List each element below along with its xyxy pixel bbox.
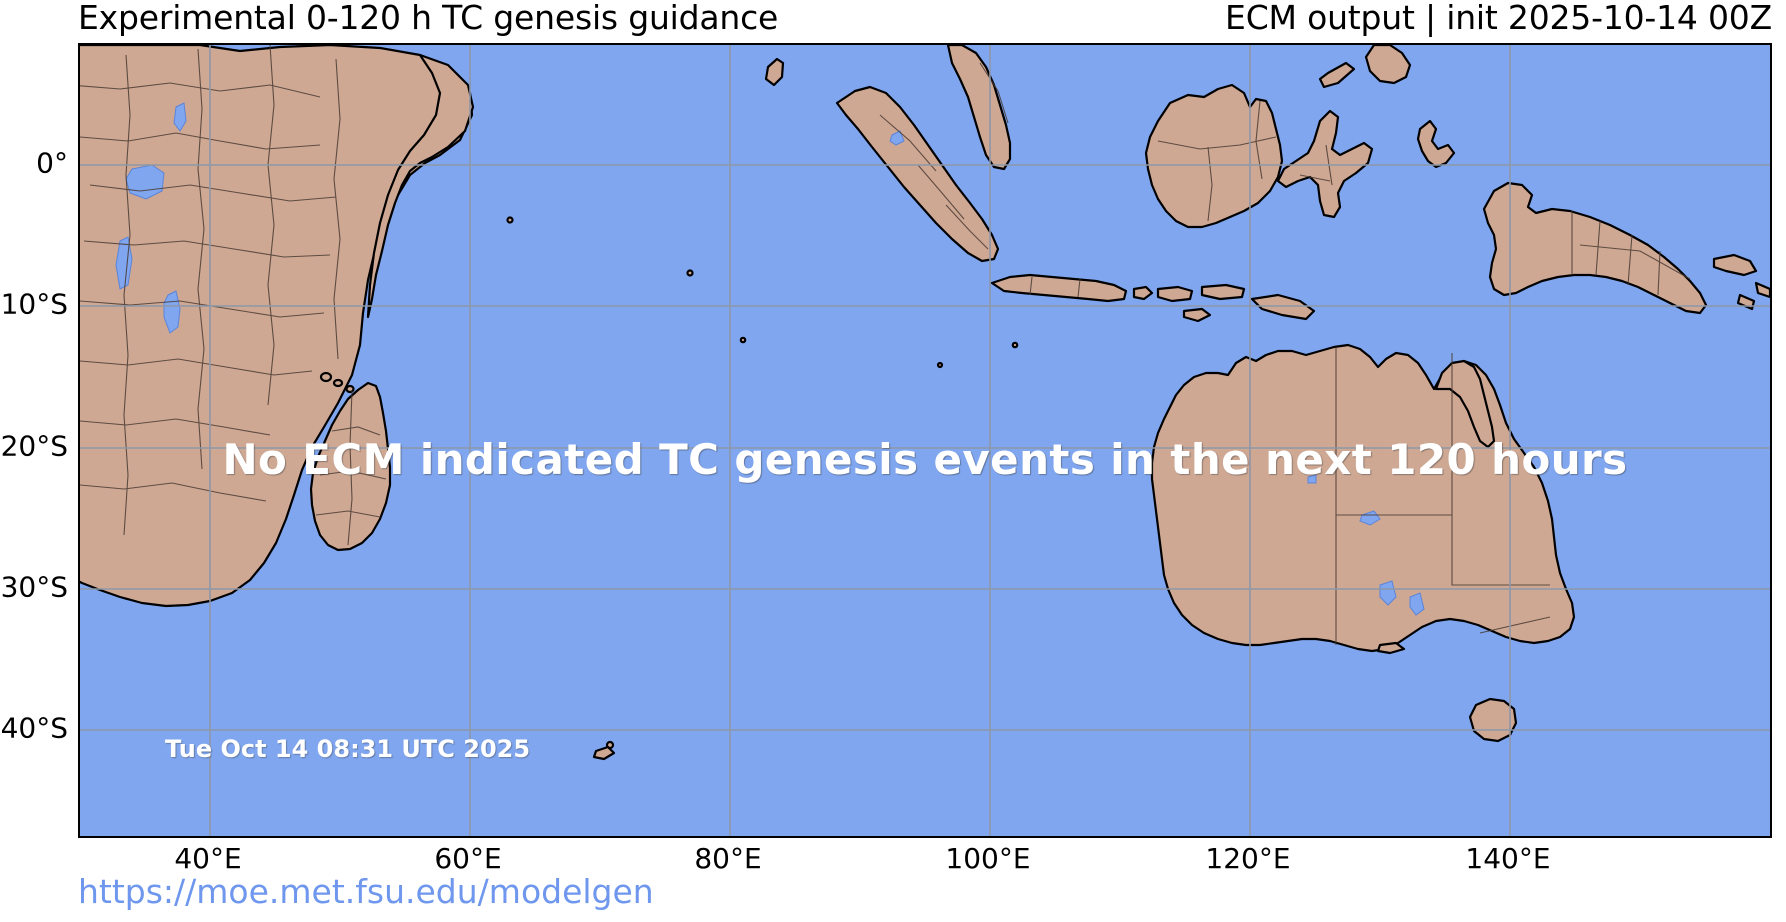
xtick-120e: 120°E bbox=[1205, 842, 1290, 875]
page-title: Experimental 0-120 h TC genesis guidance bbox=[78, 0, 778, 37]
xtick-60e: 60°E bbox=[434, 842, 501, 875]
model-init-label: ECM output | init 2025-10-14 00Z bbox=[1225, 0, 1772, 37]
xtick-140e: 140°E bbox=[1465, 842, 1550, 875]
ytick-20s: 20°S bbox=[1, 430, 68, 463]
header: Experimental 0-120 h TC genesis guidance… bbox=[0, 0, 1786, 42]
map-canvas bbox=[80, 45, 1770, 836]
comoros-islands bbox=[321, 373, 331, 381]
small-island-1 bbox=[508, 218, 513, 223]
ytick-0: 0° bbox=[36, 147, 68, 180]
xtick-100e: 100°E bbox=[945, 842, 1030, 875]
flores-island bbox=[1202, 285, 1244, 299]
comoros-island-2 bbox=[334, 380, 342, 386]
xtick-80e: 80°E bbox=[694, 842, 761, 875]
tasmania-island bbox=[1470, 699, 1516, 741]
christmas-island bbox=[1013, 343, 1017, 347]
map-panel[interactable]: No ECM indicated TC genesis events in th… bbox=[78, 43, 1772, 838]
source-url-link[interactable]: https://moe.met.fsu.edu/modelgen bbox=[78, 872, 654, 911]
ytick-10s: 10°S bbox=[1, 288, 68, 321]
tc-genesis-guidance-page: Experimental 0-120 h TC genesis guidance… bbox=[0, 0, 1786, 922]
small-island-2 bbox=[688, 271, 693, 276]
ytick-40s: 40°S bbox=[1, 712, 68, 745]
ytick-30s: 30°S bbox=[1, 571, 68, 604]
cocos-island bbox=[938, 363, 942, 367]
lombok-sumbawa bbox=[1158, 287, 1192, 301]
xtick-40e: 40°E bbox=[174, 842, 241, 875]
small-island-3 bbox=[741, 338, 745, 342]
australia-salt-lake-1 bbox=[1308, 475, 1316, 483]
generation-timestamp: Tue Oct 14 08:31 UTC 2025 bbox=[165, 735, 530, 763]
